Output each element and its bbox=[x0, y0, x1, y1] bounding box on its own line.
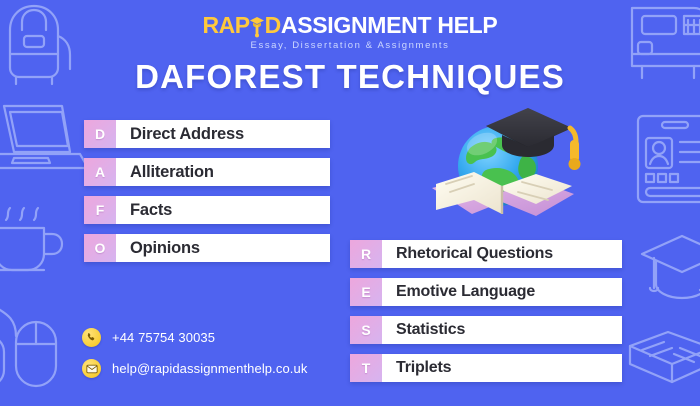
technique-label: Triplets bbox=[382, 354, 622, 382]
technique-row-rhetorical-questions[interactable]: R Rhetorical Questions bbox=[350, 240, 622, 268]
technique-row-triplets[interactable]: T Triplets bbox=[350, 354, 622, 382]
technique-label: Rhetorical Questions bbox=[382, 240, 622, 268]
technique-row-facts[interactable]: F Facts bbox=[84, 196, 330, 224]
laptop-doodle bbox=[0, 96, 86, 180]
phone-icon bbox=[82, 328, 101, 347]
brand-tagline: Essay, Dissertation & Assignments bbox=[0, 40, 700, 51]
contact-info: +44 75754 30035 help@rapidassignmenthelp… bbox=[82, 328, 307, 390]
contact-email[interactable]: help@rapidassignmenthelp.co.uk bbox=[82, 359, 307, 378]
technique-letter-badge: O bbox=[84, 234, 116, 262]
page-title: DAFOREST TECHNIQUES bbox=[0, 58, 700, 96]
technique-letter-badge: A bbox=[84, 158, 116, 186]
technique-letter-badge: T bbox=[350, 354, 382, 382]
brand-logo: RAP DASSIGNMENT HELP Essay, Dissertation… bbox=[0, 12, 700, 51]
technique-letter-badge: S bbox=[350, 316, 382, 344]
technique-label: Direct Address bbox=[116, 120, 330, 148]
contact-phone[interactable]: +44 75754 30035 bbox=[82, 328, 307, 347]
technique-label: Opinions bbox=[116, 234, 330, 262]
envelope-icon bbox=[82, 359, 101, 378]
technique-label: Statistics bbox=[382, 316, 622, 344]
technique-row-statistics[interactable]: S Statistics bbox=[350, 316, 622, 344]
technique-list-right: R Rhetorical Questions E Emotive Languag… bbox=[350, 240, 622, 392]
globe-graduation-cap-book-illustration bbox=[424, 104, 584, 232]
technique-letter-badge: F bbox=[84, 196, 116, 224]
technique-row-opinions[interactable]: O Opinions bbox=[84, 234, 330, 262]
technique-label: Facts bbox=[116, 196, 330, 224]
logo-tail-text: ASSIGNMENT HELP bbox=[281, 12, 498, 38]
technique-list-left: D Direct Address A Alliteration F Facts … bbox=[84, 120, 330, 272]
technique-letter-badge: E bbox=[350, 278, 382, 306]
technique-row-emotive-language[interactable]: E Emotive Language bbox=[350, 278, 622, 306]
logo-d-accent: D bbox=[265, 12, 281, 38]
email-address: help@rapidassignmenthelp.co.uk bbox=[112, 361, 307, 376]
logo-wordmark: RAP DASSIGNMENT HELP bbox=[203, 12, 498, 39]
graduation-cap-doodle bbox=[638, 228, 700, 316]
technique-row-alliteration[interactable]: A Alliteration bbox=[84, 158, 330, 186]
technique-label: Emotive Language bbox=[382, 278, 622, 306]
logo-rap-text: RAP bbox=[203, 12, 250, 39]
technique-letter-badge: R bbox=[350, 240, 382, 268]
id-card-doodle bbox=[634, 112, 700, 208]
technique-label: Alliteration bbox=[116, 158, 330, 186]
technique-letter-badge: D bbox=[84, 120, 116, 148]
logo-assignment-help-text: DASSIGNMENT HELP bbox=[265, 12, 498, 39]
graduation-cap-icon bbox=[249, 14, 265, 38]
technique-row-direct-address[interactable]: D Direct Address bbox=[84, 120, 330, 148]
coffee-cup-doodle bbox=[0, 200, 72, 278]
computer-mouse-doodle bbox=[0, 296, 76, 394]
open-book-doodle bbox=[624, 320, 700, 406]
phone-number: +44 75754 30035 bbox=[112, 330, 215, 345]
